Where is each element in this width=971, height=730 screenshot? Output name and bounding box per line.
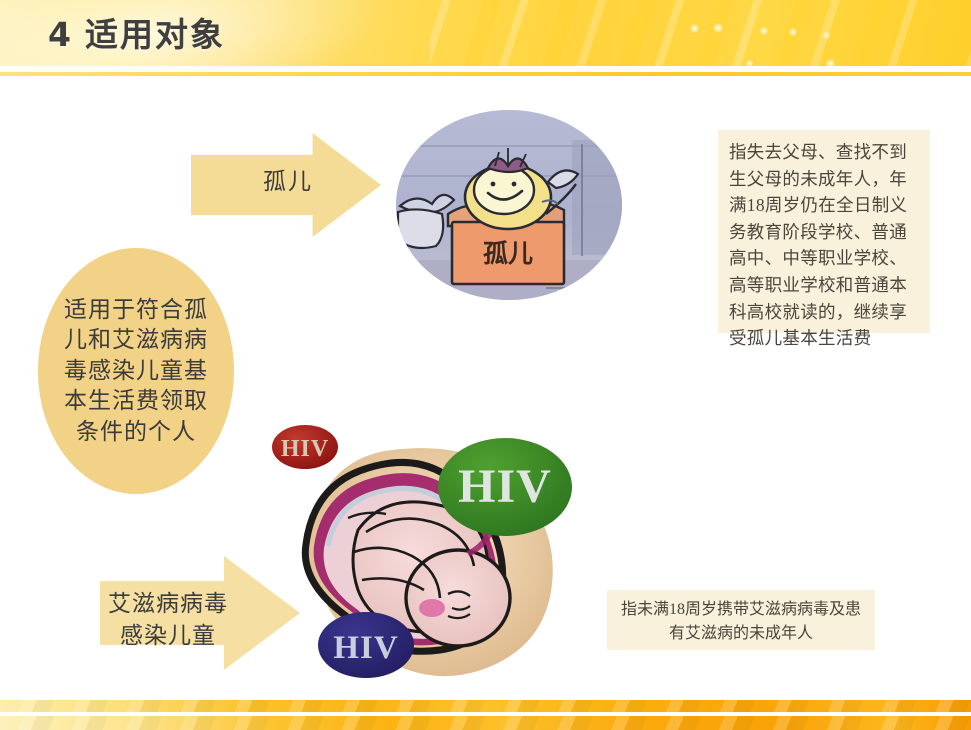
- svg-text:HIV: HIV: [333, 630, 398, 666]
- arrow-hiv-line-2: 感染儿童: [88, 620, 248, 652]
- footer-band-top: [0, 700, 971, 712]
- hiv-badge-red: HIV: [272, 425, 338, 469]
- note-hiv-definition: 指未满18周岁携带艾滋病病毒及患有艾滋病的未成年人: [607, 590, 875, 650]
- page-title-number: 4: [48, 15, 73, 54]
- svg-text:HIV: HIV: [281, 436, 329, 462]
- page-title: 4适用对象: [48, 8, 225, 56]
- hiv-badge-navy: HIV: [318, 612, 414, 678]
- orphan-illustration: 孤儿: [396, 110, 622, 300]
- hiv-photo: HIV HIV HIV: [262, 412, 592, 684]
- note-orphan-definition: 指失去父母、查找不到生父母的未成年人，年满18周岁仍在全日制义务教育阶段学校、普…: [718, 130, 930, 333]
- scope-ellipse-label: 适用于符合孤儿和艾滋病病毒感染儿童基本生活费领取条件的个人: [61, 295, 211, 447]
- scope-ellipse: 适用于符合孤儿和艾滋病病毒感染儿童基本生活费领取条件的个人: [38, 248, 234, 494]
- arrow-hiv-children-label: 艾滋病病毒 感染儿童: [88, 588, 248, 651]
- footer-band-bottom: [0, 716, 971, 730]
- orphan-photo: 孤儿: [396, 110, 622, 300]
- arrow-orphan-label: 孤儿: [218, 162, 358, 196]
- svg-text:孤儿: 孤儿: [483, 239, 533, 268]
- hiv-illustration: HIV HIV HIV: [262, 412, 592, 684]
- arrow-hiv-line-1: 艾滋病病毒: [88, 588, 248, 620]
- footer-band-bottom-stripes: [0, 716, 971, 730]
- svg-text:HIV: HIV: [458, 460, 552, 513]
- hiv-badge-green: HIV: [438, 438, 572, 536]
- slide-root: 4适用对象 适用于符合孤儿和艾滋病病毒感染儿童基本生活费领取条件的个人 孤儿 艾…: [0, 0, 971, 730]
- header-stripes: [430, 0, 971, 66]
- page-title-text: 适用对象: [85, 15, 225, 54]
- footer-band-top-stripes: [0, 700, 971, 712]
- header-accent-line: [0, 72, 971, 76]
